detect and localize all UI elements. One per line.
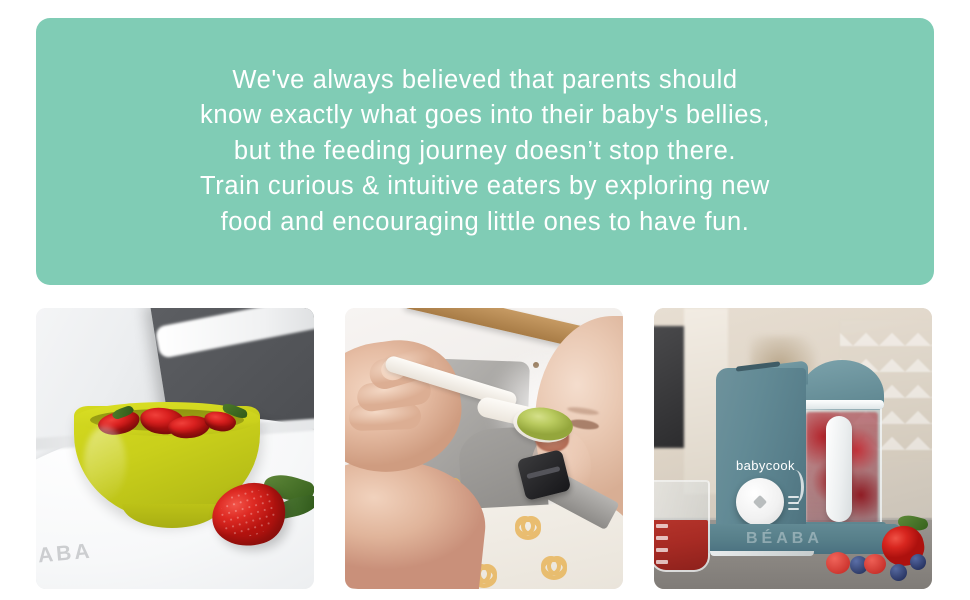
photo-babycook-appliance: babycook BÉABA xyxy=(654,308,932,589)
brand-statement-banner: We've always believed that parents shoul… xyxy=(36,18,934,285)
measuring-cup-graduations xyxy=(656,522,672,566)
photo-baby-spoon-feeding xyxy=(345,308,623,589)
statement-line-5: food and encouraging little ones to have… xyxy=(50,205,920,241)
base-foot-strip xyxy=(710,551,814,556)
bowl-gloss-highlight xyxy=(84,426,126,500)
promo-banner-page: We've always believed that parents shoul… xyxy=(0,0,970,600)
statement-line-4: Train curious & intuitive eaters by expl… xyxy=(50,169,920,205)
statement-line-2: know exactly what goes into their baby's… xyxy=(50,98,920,134)
blender-jar-seal-ring xyxy=(800,400,884,409)
pretzel-print-motif xyxy=(541,558,567,580)
dial-tick-marks xyxy=(788,496,800,514)
photo-lime-bowl-strawberries: ABA xyxy=(36,308,314,589)
tray-embossed-brand: ABA xyxy=(37,540,93,569)
blender-jar-handle xyxy=(826,416,852,522)
product-wordmark: babycook xyxy=(736,458,795,473)
raspberry xyxy=(864,554,886,574)
brand-statement-text: We've always believed that parents shoul… xyxy=(36,63,934,241)
blueberry xyxy=(890,564,907,581)
lifestyle-photo-row: ABA xyxy=(36,308,934,589)
statement-line-3: but the feeding journey doesn’t stop the… xyxy=(50,134,920,170)
pretzel-print-motif xyxy=(515,518,541,540)
blueberry xyxy=(910,554,926,570)
raspberry xyxy=(826,552,850,574)
statement-line-1: We've always believed that parents shoul… xyxy=(50,63,920,99)
appliance-control-dial[interactable] xyxy=(736,478,784,526)
base-embossed-brand: BÉABA xyxy=(746,530,823,548)
